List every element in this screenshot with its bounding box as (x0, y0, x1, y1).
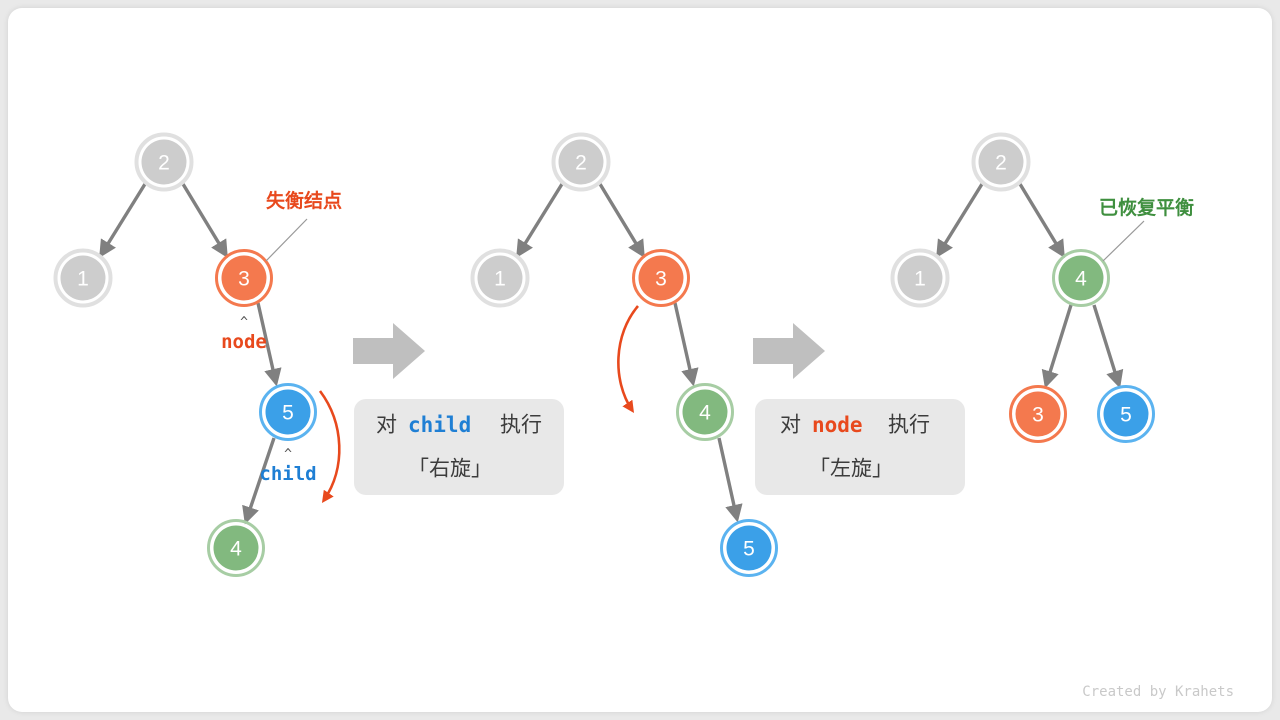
transition-arrow-2 (753, 323, 825, 379)
node-value: 2 (575, 152, 587, 175)
node-value: 3 (655, 268, 667, 291)
step-box-2-suffix: 执行 (888, 414, 930, 437)
tree-node-gray-2[interactable]: 2 (974, 135, 1029, 190)
node-value: 5 (1120, 404, 1132, 427)
tree-edge (719, 438, 737, 519)
tree-edge (1046, 305, 1071, 385)
step-box-2-code: node (812, 413, 863, 437)
step-box-2-prefix: 对 (780, 414, 801, 437)
tree-node-gray-2[interactable]: 2 (554, 135, 609, 190)
leader-line (1103, 221, 1144, 261)
step-box-2: 对 node 执行 「左旋」 (755, 399, 965, 495)
tree-node-gray-1[interactable]: 1 (56, 251, 111, 306)
tree-edge (600, 184, 643, 255)
node-value: 2 (158, 152, 170, 175)
tree-node-gray-1[interactable]: 1 (473, 251, 528, 306)
tree-edge (101, 184, 145, 255)
panel-3: 2 1 4 3 5 已恢 (893, 135, 1195, 442)
node-value: 4 (699, 402, 711, 425)
node-value: 1 (494, 268, 506, 291)
node-value: 3 (238, 268, 250, 291)
tree-edge (938, 184, 982, 255)
rotation-arrow-right (320, 391, 339, 500)
step-box-1: 对 child 执行 「右旋」 (354, 399, 564, 495)
diagram-canvas: 2 1 3 5 4 失衡 (8, 8, 1272, 712)
node-value: 4 (230, 538, 242, 561)
step-box-2-line2: 「左旋」 (809, 458, 893, 481)
node-value: 1 (77, 268, 89, 291)
tree-node-gray-2[interactable]: 2 (137, 135, 192, 190)
step-box-1-prefix: 对 (376, 414, 397, 437)
tree-edge (518, 184, 562, 255)
watermark-credit: Created by Krahets (1082, 684, 1234, 700)
step-box-1-suffix: 执行 (500, 414, 542, 437)
tree-node-green-4[interactable]: 4 (209, 521, 264, 576)
annotation-rebalanced: 已恢复平衡 (1099, 196, 1194, 219)
transition-arrow-1 (353, 323, 425, 379)
tree-edge (1020, 184, 1063, 255)
annotation-unbalanced-node: 失衡结点 (266, 189, 342, 212)
node-value: 4 (1075, 268, 1087, 291)
tree-node-blue-5[interactable]: 5 (722, 521, 777, 576)
caret-icon: ^ (240, 315, 248, 330)
node-value: 5 (282, 402, 294, 425)
diagram-svg: 2 1 3 5 4 失衡 (8, 8, 1272, 712)
pointer-label-child: child (259, 463, 316, 485)
step-box-1-code: child (408, 413, 471, 437)
tree-node-green-4[interactable]: 4 (1054, 251, 1109, 306)
tree-node-blue-5[interactable]: 5 (261, 385, 316, 440)
tree-edge (675, 303, 693, 383)
node-value: 1 (914, 268, 926, 291)
tree-node-green-4[interactable]: 4 (678, 385, 733, 440)
tree-node-orange-3[interactable]: 3 (1011, 387, 1066, 442)
rotation-arrow-left (618, 306, 638, 410)
tree-node-blue-5[interactable]: 5 (1099, 387, 1154, 442)
panel-2: 2 1 3 4 5 (473, 135, 777, 576)
pointer-label-node: node (221, 331, 267, 353)
tree-edge (1094, 305, 1119, 385)
node-value: 3 (1032, 404, 1044, 427)
caret-icon: ^ (284, 447, 292, 462)
tree-node-orange-3[interactable]: 3 (634, 251, 689, 306)
step-box-1-line2: 「右旋」 (408, 458, 492, 481)
tree-edge (183, 184, 226, 255)
leader-line (266, 219, 307, 261)
node-value: 5 (743, 538, 755, 561)
tree-node-gray-1[interactable]: 1 (893, 251, 948, 306)
tree-node-orange-3[interactable]: 3 (217, 251, 272, 306)
node-value: 2 (995, 152, 1007, 175)
panel-1: 2 1 3 5 4 失衡 (56, 135, 343, 576)
